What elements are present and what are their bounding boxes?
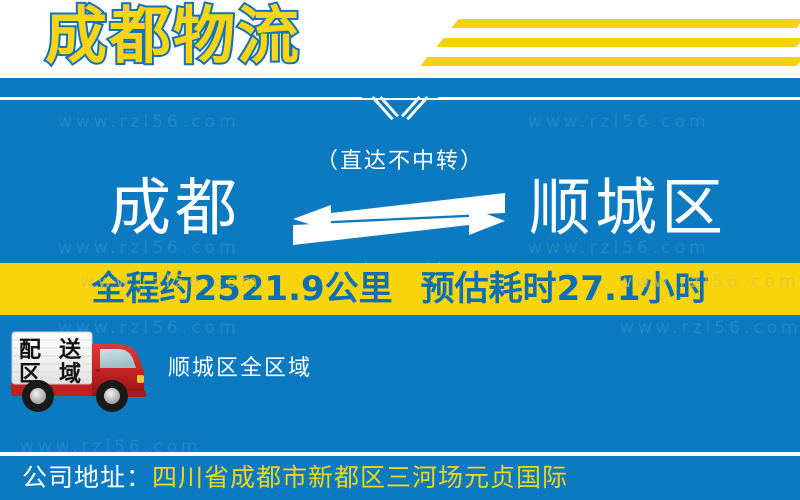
stripe-1 xyxy=(451,19,800,28)
stripe-2 xyxy=(436,38,800,47)
destination-city: 顺城区 xyxy=(478,153,778,263)
delivery-coverage-text: 顺城区全区域 xyxy=(168,350,312,382)
svg-text:送: 送 xyxy=(59,337,81,363)
origin-city: 成都 xyxy=(25,153,325,263)
logistics-poster: 成都物流 www.rzl56.com www.rzl56.com www.rzl… xyxy=(0,0,800,500)
delivery-truck-icon: 配 送 区 域 xyxy=(8,328,158,416)
delivery-row: 配 送 区 域 xyxy=(0,328,800,418)
company-address-line: 公司地址：四川省成都市新都区三河场元贞国际 xyxy=(22,456,568,500)
watermark: www.rzl56.com xyxy=(80,272,262,292)
header-banner: 成都物流 xyxy=(0,0,800,78)
svg-text:配: 配 xyxy=(19,338,41,363)
stripe-3 xyxy=(420,57,800,66)
chevron-down-icon xyxy=(371,92,429,122)
company-address-label: 公司地址： xyxy=(22,463,152,492)
brand-title: 成都物流 xyxy=(45,0,301,74)
decorative-stripes xyxy=(410,0,800,78)
watermark: www.rzl56.com xyxy=(528,112,710,132)
poster-body: www.rzl56.com www.rzl56.com www.rzl56.co… xyxy=(0,78,800,500)
route-row: 成都 （直达不中转） 【往返运输】 顺城区 xyxy=(0,153,800,263)
svg-text:域: 域 xyxy=(59,361,81,387)
footer-bar: 公司地址：四川省成都市新都区三河场元贞国际 xyxy=(0,456,800,500)
watermark: www.rzl56.com xyxy=(58,112,240,132)
company-address-value: 四川省成都市新都区三河场元贞国际 xyxy=(152,463,568,492)
watermark: www.rzl56.com xyxy=(618,272,800,292)
double-arrow-icon xyxy=(293,191,505,249)
